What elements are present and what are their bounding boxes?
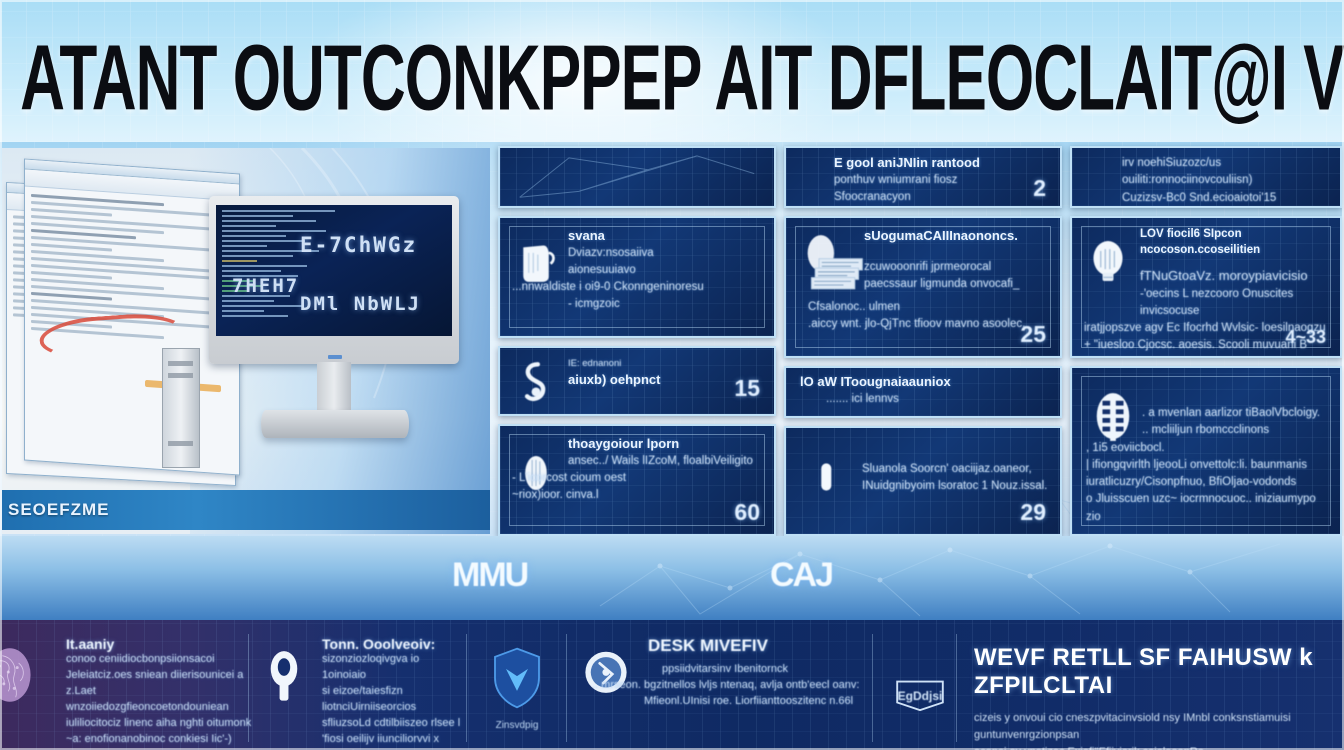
card-line: iuratlicuzry/Cisonpfnuo, BfiOljao-vodond…	[1086, 474, 1328, 491]
card-line: . a mvenlan aarlizor tiBaolVbcloigy.	[1142, 405, 1328, 422]
bottom-cell-line: si eizoe/taiesfizn liotnciUirniiseorcios	[322, 684, 462, 716]
card-line: -'oecins L nezcooro Onuscites invicsocus…	[1140, 286, 1328, 321]
bottom-cell-key[interactable]: Tonn. Ooolveoiv: sizonziozloqivgva io 1o…	[252, 626, 470, 750]
card-line: ...nnwaldiste i oi9-0 Ckonngeninoresu	[512, 279, 762, 296]
desktop-tower	[162, 348, 200, 468]
card-text: irv noehiSiuzozc/us ouiliti:ronnociinovc…	[1122, 155, 1330, 207]
screen-glyph-mid: 7HEH7	[232, 275, 299, 297]
card-line: Sfoocranacyon	[834, 189, 1048, 206]
bottom-cell-line: 'fiosi oeilijv iiunciliorvvi x uasauioz	[322, 732, 462, 750]
bottom-divider	[248, 634, 249, 742]
card-c2-r2[interactable]: sUogumaCAIIInaononcs. zcuwooonrifi jprme…	[784, 216, 1062, 358]
bottom-cell-head: Tonn. Ooolveoiv:	[322, 636, 462, 652]
card-title: thoaygoiour lporn	[568, 435, 762, 453]
card-line: aionesuuiavo	[568, 262, 762, 279]
monitor-screen: E-7ChWGz 7HEH7 DMl NbWLJ	[216, 205, 452, 336]
card-badge: 29	[1020, 499, 1046, 526]
shield-icon	[489, 645, 545, 716]
card-c1-r2[interactable]: svana Dviazv:nsosaiiva aionesuuiavo ...n…	[498, 216, 776, 338]
screen-glyph-bottom: DMl NbWLJ	[300, 293, 421, 315]
card-line: irv noehiSiuzozc/us	[1122, 155, 1330, 172]
card-c1-r3[interactable]: IE: ednanoni aiuxb) oehpnct 15	[498, 346, 776, 416]
bottom-cell-line: ppsiidvitarsinv Ibenitornck	[662, 662, 868, 678]
card-line: o Jluisscuen uzc~ iocrmnocuoc.. iniziaum…	[1086, 491, 1328, 526]
card-body: irv noehiSiuzozc/us ouiliti:ronnociinovc…	[1072, 148, 1340, 206]
mid-band: MMU CAJ	[0, 536, 1344, 620]
card-text: thoaygoiour lporn ansec../ Wails lIZcoM,…	[568, 435, 762, 504]
card-grid: svana Dviazv:nsosaiiva aionesuuiavo ...n…	[498, 146, 1342, 536]
bottom-cell-line: iuliliocitociz linenc aiha nghti oitumon…	[66, 716, 254, 732]
brain-icon	[0, 642, 38, 708]
card-c2-r3[interactable]: lO aW IToougnaiaauniox ....... ici lennv…	[784, 366, 1062, 418]
card-c3-r1[interactable]: irv noehiSiuzozc/us ouiliti:ronnociinovc…	[1070, 146, 1342, 208]
photo-caption-bar: SEOEFZME	[2, 490, 490, 530]
card-text: IE: ednanoni aiuxb) oehpnct	[568, 357, 762, 389]
bottom-cell-text: It.aaniy conoo ceniidiocbonpsiionsacoi J…	[66, 636, 254, 748]
card-body: svana Dviazv:nsosaiiva aionesuuiavo ...n…	[500, 218, 774, 336]
card-body: Sluanola Soorcn' oaciijaz.oaneor, INuidg…	[786, 428, 1060, 534]
card-line: Sluanola Soorcn' oaciijaz.oaneor,	[862, 461, 1048, 478]
bottom-cell-line: Mfieonl.UInisi roe. Liorfiianttooszitenc…	[644, 694, 868, 710]
card-badge: 60	[734, 499, 760, 526]
card-title: LOV fiocil6 SIpcon ncocoson.ccoseilitien	[1140, 227, 1328, 258]
band-glyph-left: MMU	[452, 556, 527, 595]
bottom-wide-line: aconei.oy ynotizoc Exiafi''Efiiviarik ca…	[974, 744, 1330, 750]
card-badge: 4~33	[1285, 327, 1326, 348]
card-text: . a mvenlan aarlizor tiBaolVbcloigy. .. …	[1142, 405, 1328, 526]
bottom-cell-head: It.aaniy	[66, 636, 254, 652]
poster-header: ATANT OUTCONKPPEP AIT DFLEOCLAIT@I VOIVE…	[0, 0, 1344, 142]
bottom-wide-head: WEVF RETLL SF FAIHUSW k ZFPILCLTAI	[974, 644, 1330, 700]
band-network-icon	[0, 536, 1344, 620]
card-line: ~riox)ioor. cinva.l	[512, 487, 762, 504]
card-body: E gool aniJNIin rantood ponthuv wniumran…	[786, 148, 1060, 206]
card-column-3: irv noehiSiuzozc/us ouiliti:ronnociinovc…	[1070, 146, 1342, 536]
card-title: sUogumaCAIIInaononcs.	[864, 227, 1048, 245]
bottom-cell-shield[interactable]: Zinsvdpig	[470, 626, 564, 750]
card-body: lO aW IToougnaiaauniox ....... ici lennv…	[786, 368, 1060, 416]
card-text: sUogumaCAIIInaononcs. zcuwooonrifi jprme…	[864, 227, 1048, 334]
card-line: Cuzizsv-Bc0 Snd.ecioaiotoi'15	[1122, 190, 1330, 207]
card-badge: 25	[1020, 321, 1046, 348]
card-line: ouiliti:ronnociinovcouliisn)	[1122, 172, 1330, 189]
card-title: svana	[568, 227, 762, 245]
bottom-cell-text: Tonn. Ooolveoiv: sizonziozloqivgva io 1o…	[322, 636, 462, 750]
bottom-cell-line: conoo ceniidiocbonpsiionsacoi	[66, 652, 254, 668]
bottom-divider	[566, 634, 567, 742]
card-line: , 1i5 eoviicbocl.	[1086, 440, 1328, 457]
card-line: ....... ici lennvs	[826, 391, 1050, 408]
card-c2-r4[interactable]: Sluanola Soorcn' oaciijaz.oaneor, INuidg…	[784, 426, 1062, 536]
page-title: ATANT OUTCONKPPEP AIT DFLEOCLAIT@I VOIVE…	[20, 24, 1324, 131]
card-text: svana Dviazv:nsosaiiva aionesuuiavo ...n…	[568, 227, 762, 314]
card-line: .aiccy wnt. jlo-QjTnc tfioov mavno asool…	[808, 316, 1048, 333]
card-title: E gool aniJNIin rantood	[834, 154, 1048, 172]
card-c1-r1[interactable]	[498, 146, 776, 208]
screen-glyph-top: E-7ChWGz	[300, 233, 417, 257]
bottom-wide-line: cizeis y onvoui cio cneszpvitacinvsiold …	[974, 710, 1330, 744]
bottom-wide-cell[interactable]: WEVF RETLL SF FAIHUSW k ZFPILCLTAI cizei…	[960, 626, 1344, 750]
card-line: INuidgnibyoim lsoratoc 1 Nouz.issal.	[862, 478, 1048, 495]
key-icon	[258, 642, 310, 708]
card-line: fTNuGtoaVz. moroypiavicisio	[1140, 266, 1328, 286]
bottom-divider	[466, 634, 467, 742]
card-title: aiuxb) oehpnct	[568, 371, 762, 389]
card-column-1: svana Dviazv:nsosaiiva aionesuuiavo ...n…	[498, 146, 776, 536]
photo-caption-text: SEOEFZME	[8, 500, 110, 520]
card-c2-r1[interactable]: E gool aniJNIin rantood ponthuv wniumran…	[784, 146, 1062, 208]
bottom-divider	[956, 634, 957, 742]
card-c3-r2[interactable]: LOV fiocil6 SIpcon ncocoson.ccoseilitien…	[1070, 216, 1342, 358]
poster-root: ATANT OUTCONKPPEP AIT DFLEOCLAIT@I VOIVE…	[0, 0, 1344, 750]
card-text: Sluanola Soorcn' oaciijaz.oaneor, INuidg…	[862, 461, 1048, 496]
card-badge: 15	[734, 375, 760, 402]
bottom-cell-line: sizonziozloqivgva io 1oinoiaio	[322, 652, 462, 684]
card-title: lO aW IToougnaiaauniox	[800, 373, 1050, 391]
card-text: lO aW IToougnaiaauniox ....... ici lennv…	[800, 373, 1050, 408]
desktop-monitor: E-7ChWGz 7HEH7 DMl NbWLJ	[209, 196, 459, 446]
bottom-cell-logo[interactable]: EgDdjsi	[880, 626, 960, 750]
card-line: ansec../ Wails lIZcoM, floalbiVeiligito	[568, 453, 762, 470]
card-text: E gool aniJNIin rantood ponthuv wniumran…	[834, 154, 1048, 206]
shield-caption: Zinsvdpig	[496, 720, 539, 731]
bottom-cell-line: z.Laet wnzoiiedozgfieoncoetondouniean	[66, 684, 254, 716]
card-line: .. mcliiljun rbomccclinons	[1142, 422, 1328, 439]
card-line: - L'icorcost cioum oest	[512, 470, 762, 487]
logo-caption: EgDdjsi	[898, 689, 943, 703]
card-column-2: E gool aniJNIin rantood ponthuv wniumran…	[784, 146, 1062, 536]
blueprint-wireframe-icon	[500, 148, 774, 208]
monitor-bezel: E-7ChWGz 7HEH7 DMl NbWLJ	[209, 196, 459, 364]
card-line: | ifiongqvirlth ljeooLi onvettolc:li. ba…	[1086, 457, 1328, 474]
card-body: . a mvenlan aarlizor tiBaolVbcloigy. .. …	[1072, 368, 1340, 534]
card-body: IE: ednanoni aiuxb) oehpnct	[500, 348, 774, 414]
card-line: paecssaur ligmunda onvocafi_	[864, 276, 1048, 293]
card-body: sUogumaCAIIInaononcs. zcuwooonrifi jprme…	[786, 218, 1060, 356]
bottom-cell-line: ~a: enofionanobinoc conkiesi Iic'-)	[66, 732, 254, 748]
card-line: Dviazv:nsosaiiva	[568, 245, 762, 262]
bottom-cell-line: .. mrseon. bgzitnellos lvljs ntenaq, avl…	[592, 678, 868, 694]
card-line: ponthuv wniumrani fiosz	[834, 172, 1048, 189]
bottom-cell-brain[interactable]: It.aaniy conoo ceniidiocbonpsiionsacoi J…	[0, 626, 262, 750]
card-c3-r3[interactable]: . a mvenlan aarlizor tiBaolVbcloigy. .. …	[1070, 366, 1342, 536]
bottom-cell-head: DESK MIVEFIV	[648, 636, 868, 656]
monitor-stand-base	[261, 410, 409, 438]
bottom-cell-text: DESK MIVEFIV ppsiidvitarsinv Ibenitornck…	[648, 636, 868, 710]
monitor-power-led	[328, 355, 342, 359]
card-line: Cfsalonoc.. ulmen	[808, 299, 1048, 316]
bottom-divider	[872, 634, 873, 742]
card-body: thoaygoiour lporn ansec../ Wails lIZcoM,…	[500, 426, 774, 534]
hero-photo-panel: E-7ChWGz 7HEH7 DMl NbWLJ SEOEFZME	[2, 148, 490, 534]
disk-icon	[580, 642, 632, 708]
bottom-strip: It.aaniy conoo ceniidiocbonpsiionsacoi J…	[0, 620, 1344, 750]
band-glyph-right: CAJ	[770, 556, 832, 595]
bottom-cell-disk[interactable]: DESK MIVEFIV ppsiidvitarsinv Ibenitornck…	[574, 626, 876, 750]
bottom-cell-line: sfliuzsoLd cdtilbiiszeo rlsee l	[322, 716, 462, 732]
card-line: - icmgzoic	[568, 296, 762, 313]
card-c1-r4[interactable]: thoaygoiour lporn ansec../ Wails lIZcoM,…	[498, 424, 776, 536]
card-badge: 2	[1033, 175, 1046, 202]
card-line: zcuwooonrifi jprmeorocal	[864, 259, 1048, 276]
bottom-cell-line: Jeleiatciz.oes sniean diierisounicei a	[66, 668, 254, 684]
document-window-front	[24, 158, 240, 475]
card-subtitle: IE: ednanoni	[568, 357, 762, 371]
